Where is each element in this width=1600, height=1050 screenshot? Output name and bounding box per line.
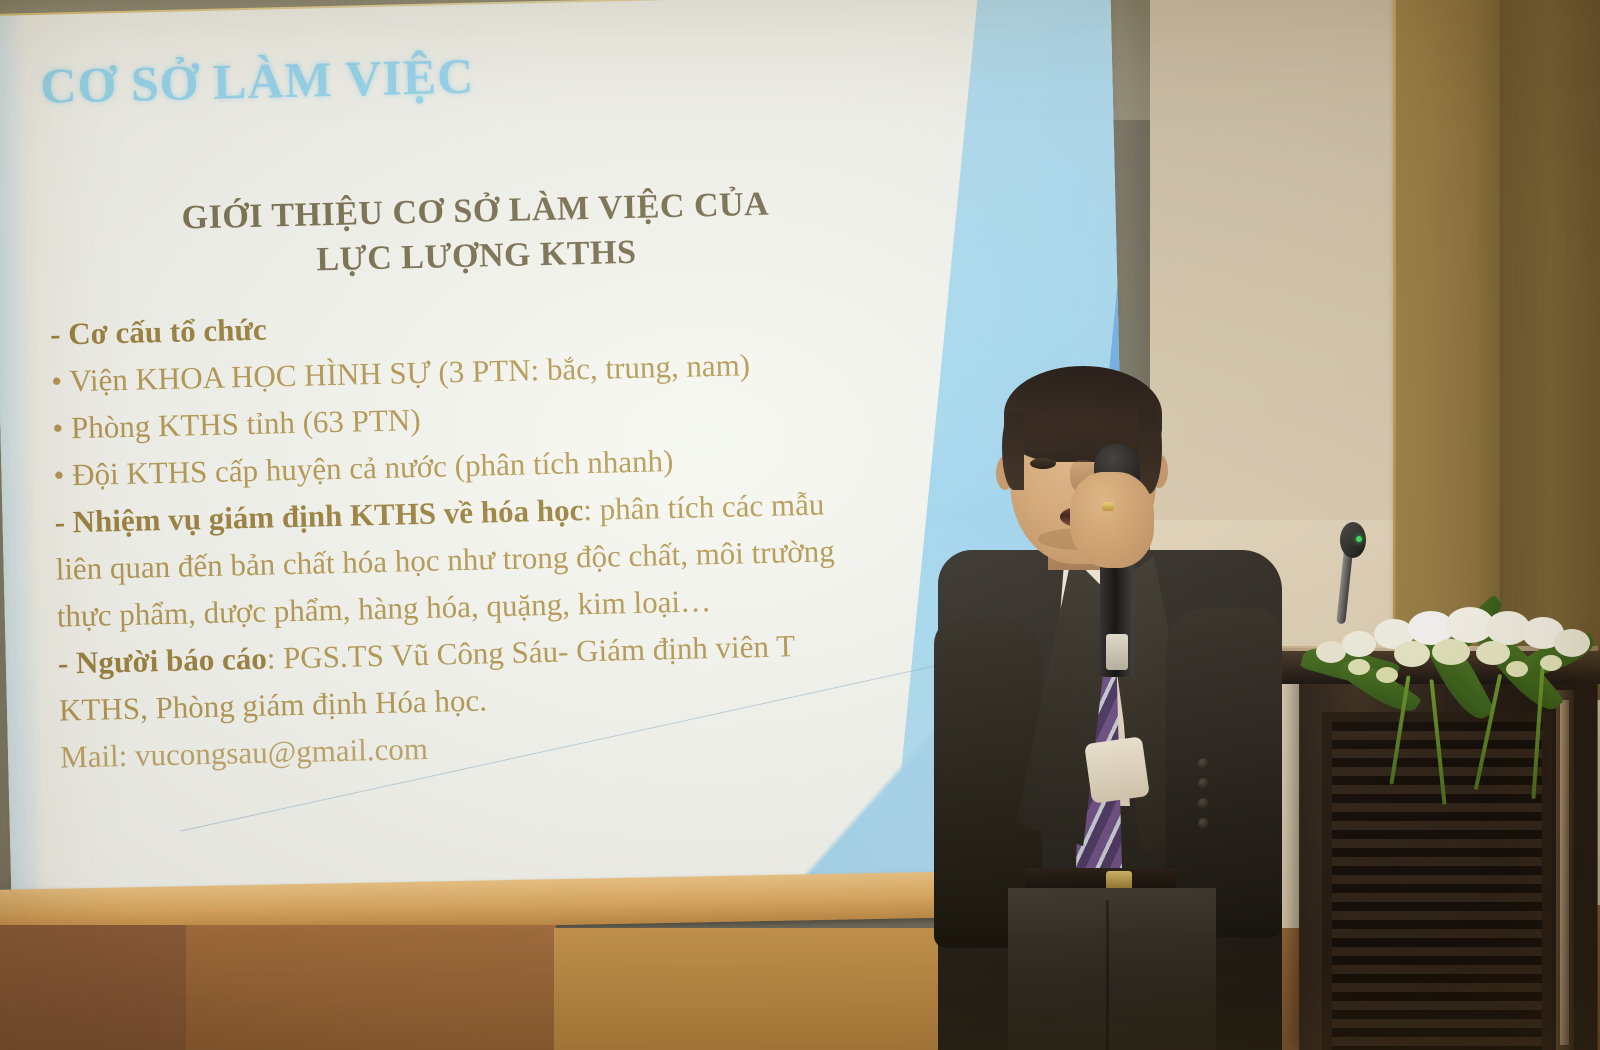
- floral-arrangement: [1290, 555, 1600, 755]
- speaker: [930, 360, 1290, 1050]
- microphone-power-indicator: [1356, 536, 1362, 542]
- speaker-trousers: [1008, 888, 1216, 1050]
- gooseneck-microphone-icon: [1340, 522, 1366, 558]
- stage-panel: [186, 925, 556, 1050]
- stage-panel: [0, 925, 190, 1050]
- slide-heading: GIỚI THIỆU CƠ SỞ LÀM VIỆC CỦA LỰC LƯỢNG …: [0, 178, 957, 290]
- podium-front-panel: [1322, 712, 1552, 1050]
- presentation-photo: CƠ SỞ LÀM VIỆC GIỚI THIỆU CƠ SỞ LÀM VIỆC…: [0, 0, 1600, 1050]
- trouser-crease: [1106, 900, 1109, 1050]
- wedding-ring: [1102, 502, 1114, 511]
- shirt-cuff: [1084, 736, 1150, 803]
- slide-title: CƠ SỞ LÀM VIỆC: [40, 47, 475, 115]
- suit-buttons: [1198, 758, 1212, 834]
- hair-side-left: [1002, 412, 1024, 490]
- eye-left: [1030, 458, 1056, 469]
- eyebrow-left: [1026, 444, 1070, 451]
- speaker-hand: [1070, 472, 1154, 568]
- microphone-label: [1106, 634, 1128, 670]
